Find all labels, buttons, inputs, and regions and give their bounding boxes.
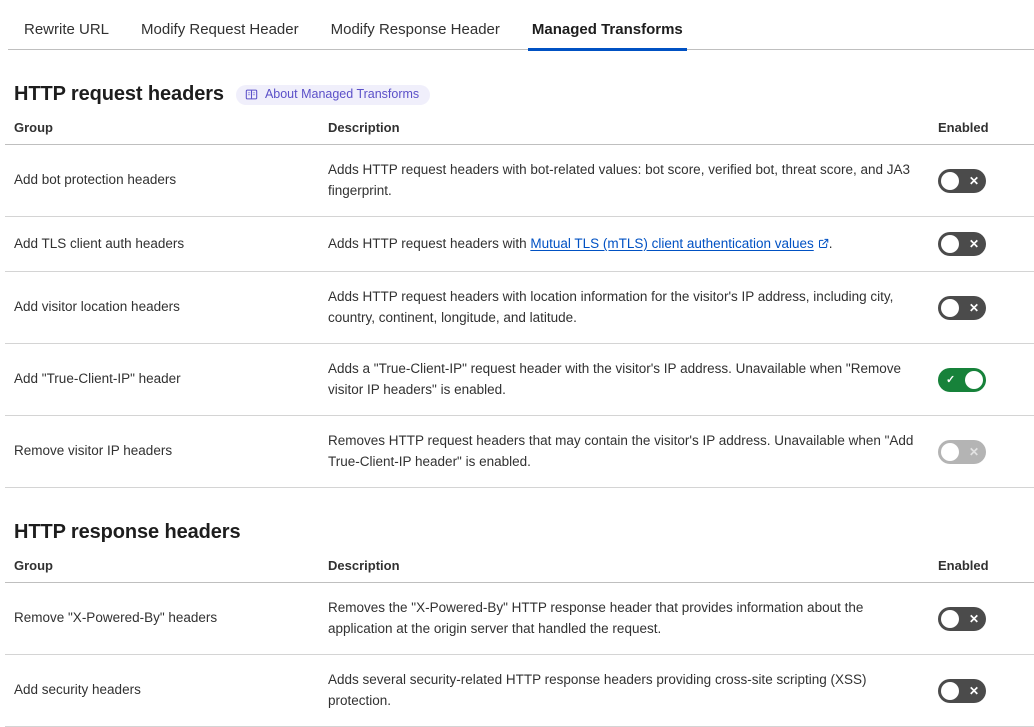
toggle-x-icon: ✕ <box>969 232 979 256</box>
row-description: Removes HTTP request headers that may co… <box>319 416 929 488</box>
toggle-knob <box>941 443 959 461</box>
row-group-label: Add security headers <box>5 655 319 727</box>
row-group-label: Remove visitor IP headers <box>5 416 319 488</box>
row-group-label: Remove "X-Powered-By" headers <box>5 583 319 655</box>
table-row: Add security headers Adds several securi… <box>5 655 1034 727</box>
tab-modify-request-header[interactable]: Modify Request Header <box>125 22 315 50</box>
toggle-add-visitor-location-headers[interactable]: ✕ <box>938 296 986 320</box>
mtls-docs-link[interactable]: Mutual TLS (mTLS) client authentication … <box>530 236 813 251</box>
managed-transforms-request-table: Group Description Enabled Add bot protec… <box>5 120 1034 488</box>
table-row: Add bot protection headers Adds HTTP req… <box>5 145 1034 217</box>
table-header-row: Group Description Enabled <box>5 120 1034 145</box>
description-text-before: Adds HTTP request headers with <box>328 236 530 251</box>
column-header-enabled: Enabled <box>929 558 1034 583</box>
row-enabled-cell: ✕ <box>929 416 1034 488</box>
row-enabled-cell: ✕ <box>929 272 1034 344</box>
row-group-label: Add bot protection headers <box>5 145 319 217</box>
row-enabled-cell: ✕ <box>929 655 1034 727</box>
toggle-knob <box>941 610 959 628</box>
book-icon <box>245 88 258 101</box>
toggle-x-icon: ✕ <box>969 169 979 193</box>
row-description: Removes the "X-Powered-By" HTTP response… <box>319 583 929 655</box>
toggle-add-tls-client-auth-headers[interactable]: ✕ <box>938 232 986 256</box>
table-row: Remove visitor IP headers Removes HTTP r… <box>5 416 1034 488</box>
table-row: Add TLS client auth headers Adds HTTP re… <box>5 217 1034 272</box>
table-row: Remove "X-Powered-By" headers Removes th… <box>5 583 1034 655</box>
toggle-knob <box>941 172 959 190</box>
external-link-icon <box>818 238 829 249</box>
column-header-description: Description <box>319 120 929 145</box>
section-http-response-headers: HTTP response headers Group Description … <box>0 521 1034 727</box>
section-header-response: HTTP response headers <box>5 521 1029 544</box>
row-description: Adds a "True-Client-IP" request header w… <box>319 344 929 416</box>
description-text-after: . <box>829 236 833 251</box>
row-enabled-cell: ✕ <box>929 217 1034 272</box>
column-header-description: Description <box>319 558 929 583</box>
toggle-remove-x-powered-by-headers[interactable]: ✕ <box>938 607 986 631</box>
row-description: Adds HTTP request headers with location … <box>319 272 929 344</box>
row-description: Adds HTTP request headers with Mutual TL… <box>319 217 929 272</box>
page-title-request: HTTP request headers <box>14 83 224 106</box>
tab-bar: Rewrite URL Modify Request Header Modify… <box>0 0 1034 50</box>
row-enabled-cell: ✕ <box>929 583 1034 655</box>
tab-managed-transforms[interactable]: Managed Transforms <box>516 22 699 50</box>
badge-label: About Managed Transforms <box>265 88 419 101</box>
row-enabled-cell: ✓ <box>929 344 1034 416</box>
toggle-remove-visitor-ip-headers: ✕ <box>938 440 986 464</box>
toggle-x-icon: ✕ <box>969 607 979 631</box>
toggle-x-icon: ✕ <box>969 679 979 703</box>
tab-rewrite-url[interactable]: Rewrite URL <box>8 22 125 50</box>
table-header-row: Group Description Enabled <box>5 558 1034 583</box>
row-group-label: Add TLS client auth headers <box>5 217 319 272</box>
managed-transforms-response-table: Group Description Enabled Remove "X-Powe… <box>5 558 1034 727</box>
toggle-add-bot-protection-headers[interactable]: ✕ <box>938 169 986 193</box>
toggle-x-icon: ✕ <box>969 296 979 320</box>
toggle-knob <box>941 682 959 700</box>
row-enabled-cell: ✕ <box>929 145 1034 217</box>
about-managed-transforms-badge[interactable]: About Managed Transforms <box>236 85 430 105</box>
toggle-check-icon: ✓ <box>946 368 955 392</box>
tab-modify-response-header[interactable]: Modify Response Header <box>315 22 516 50</box>
toggle-knob <box>941 299 959 317</box>
page-title-response: HTTP response headers <box>14 521 241 544</box>
row-group-label: Add "True-Client-IP" header <box>5 344 319 416</box>
column-header-group: Group <box>5 558 319 583</box>
table-row: Add "True-Client-IP" header Adds a "True… <box>5 344 1034 416</box>
link-text: Mutual TLS (mTLS) client authentication … <box>530 236 813 251</box>
toggle-add-security-headers[interactable]: ✕ <box>938 679 986 703</box>
row-group-label: Add visitor location headers <box>5 272 319 344</box>
toggle-add-true-client-ip-header[interactable]: ✓ <box>938 368 986 392</box>
table-row: Add visitor location headers Adds HTTP r… <box>5 272 1034 344</box>
section-http-request-headers: HTTP request headers About Managed Trans… <box>0 83 1034 488</box>
toggle-knob <box>941 235 959 253</box>
column-header-enabled: Enabled <box>929 120 1034 145</box>
toggle-knob <box>965 371 983 389</box>
row-description: Adds HTTP request headers with bot-relat… <box>319 145 929 217</box>
row-description: Adds several security-related HTTP respo… <box>319 655 929 727</box>
section-header-request: HTTP request headers About Managed Trans… <box>5 83 1029 106</box>
column-header-group: Group <box>5 120 319 145</box>
toggle-x-icon: ✕ <box>969 440 979 464</box>
